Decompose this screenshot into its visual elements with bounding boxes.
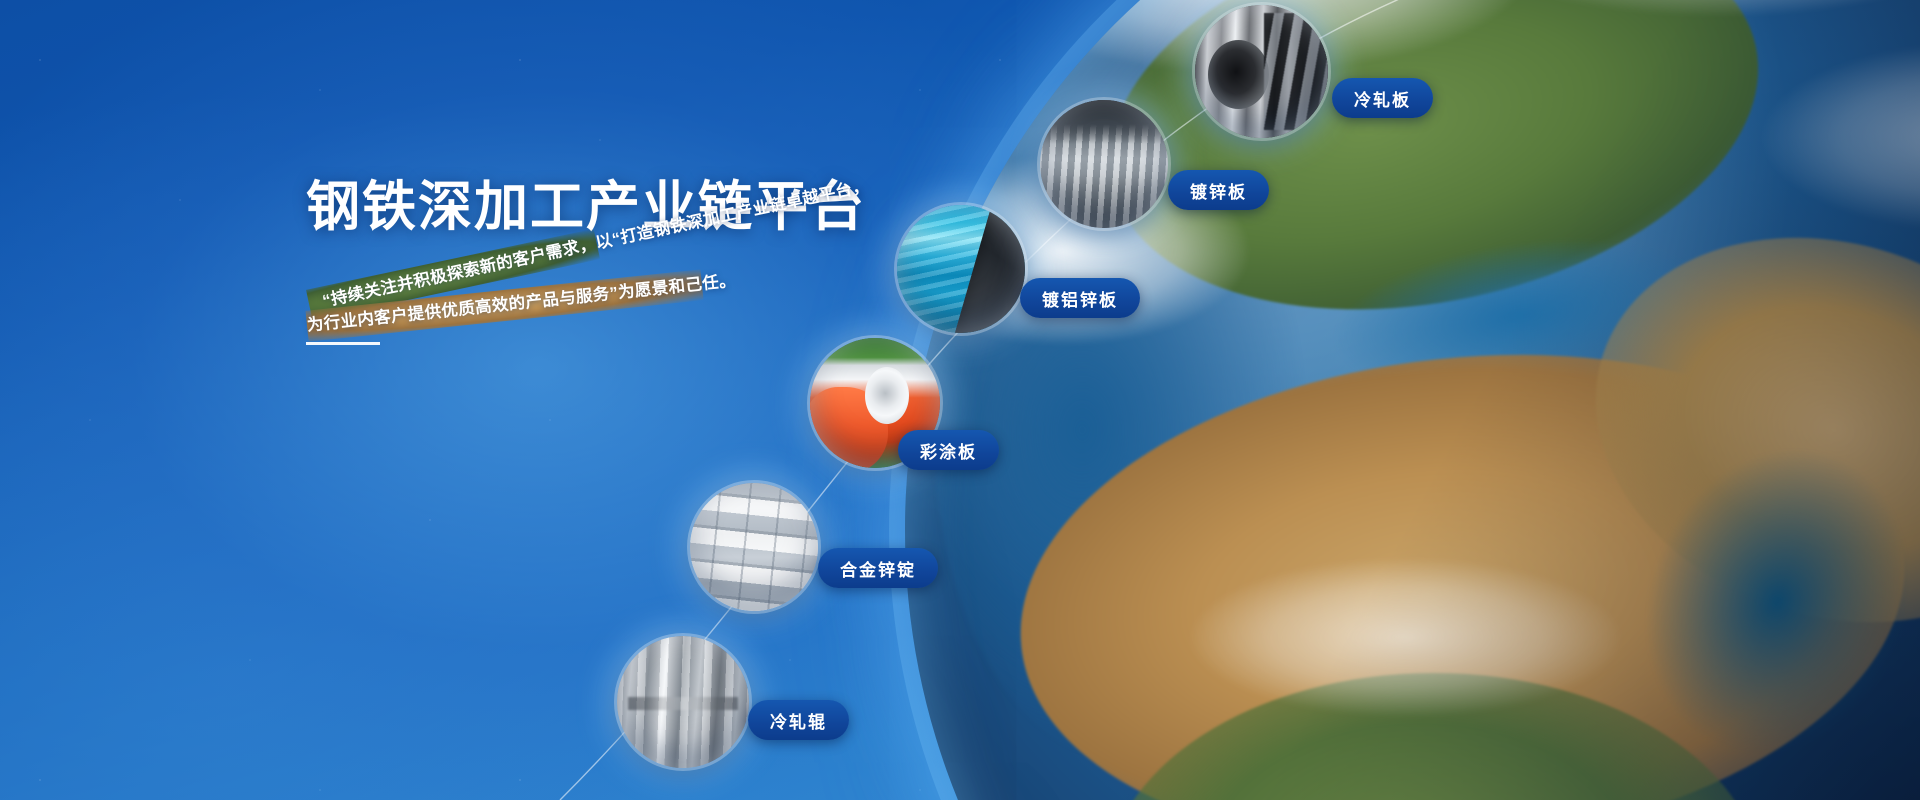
product-tag-cold-rolled[interactable]: 冷轧板: [1332, 78, 1433, 118]
zinc-ingot-icon[interactable]: [690, 483, 818, 611]
product-tag-zinc-ingot[interactable]: 合金锌锭: [818, 548, 938, 588]
product-label: 合金锌锭: [840, 556, 916, 581]
product-label: 冷轧辊: [770, 708, 827, 733]
product-tag-galvanized[interactable]: 镀锌板: [1168, 170, 1269, 210]
banner-copy: 钢铁深加工产业链平台 “持续关注并积极探索新的客户需求，以“打造钢铁深加工产业链…: [306, 178, 946, 345]
product-label: 冷轧板: [1354, 86, 1411, 111]
product-label: 彩涂板: [920, 438, 977, 463]
product-tag-rolling-roll[interactable]: 冷轧辊: [748, 700, 849, 740]
product-tag-galvalume[interactable]: 镀铝锌板: [1020, 278, 1140, 318]
galvalume-sheet-icon[interactable]: [897, 205, 1025, 333]
product-label: 镀铝锌板: [1042, 286, 1118, 311]
title-divider-rule: [306, 342, 380, 345]
banner-subtitle: “持续关注并积极探索新的客户需求，以“打造钢铁深加工产业链卓越平台， 为行业内客…: [306, 259, 946, 320]
galvanized-sheet-icon[interactable]: [1040, 100, 1168, 228]
steel-coil-icon[interactable]: [1195, 5, 1328, 138]
hero-banner: 钢铁深加工产业链平台 “持续关注并积极探索新的客户需求，以“打造钢铁深加工产业链…: [0, 0, 1920, 800]
product-tag-color-coated[interactable]: 彩涂板: [898, 430, 999, 470]
rolling-roll-icon[interactable]: [617, 636, 749, 768]
product-label: 镀锌板: [1190, 178, 1247, 203]
